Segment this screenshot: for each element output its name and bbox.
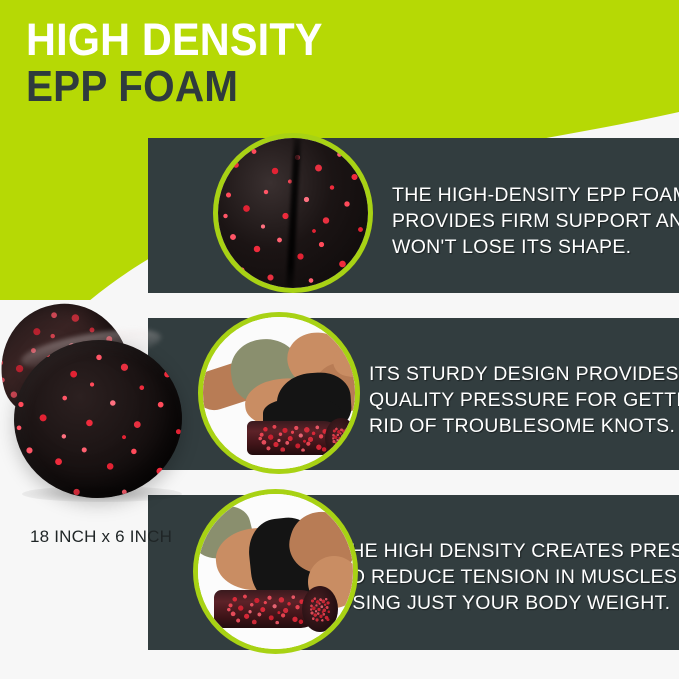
thigh-rolling-photo	[203, 317, 355, 469]
feature-3-line-1: THE HIGH DENSITY CREATES PRESSURE	[338, 538, 679, 564]
feature-text-3: THE HIGH DENSITY CREATES PRESSURE TO RED…	[338, 538, 679, 616]
page-title: HIGH DENSITY EPP FOAM	[26, 16, 348, 110]
roller-face-speckles	[9, 334, 188, 503]
feature-2-line-3: RID OF TROUBLESOME KNOTS.	[369, 413, 679, 439]
roller-drop-shadow	[22, 486, 182, 502]
feature-1-line-3: WON'T LOSE ITS SHAPE.	[392, 234, 679, 260]
product-size-caption: 18 INCH x 6 INCH	[30, 527, 172, 547]
roller-end-face	[9, 334, 188, 503]
feature-2-line-1: ITS STURDY DESIGN PROVIDES	[369, 361, 679, 387]
back-rolling-photo	[198, 494, 353, 649]
foam-roller-product-image	[6, 300, 206, 505]
feature-2-line-2: QUALITY PRESSURE FOR GETTING	[369, 387, 679, 413]
feature-image-2-thigh-rolling	[203, 317, 355, 469]
feature-1-line-2: PROVIDES FIRM SUPPORT AND	[392, 208, 679, 234]
feature-text-2: ITS STURDY DESIGN PROVIDES QUALITY PRESS…	[369, 361, 679, 439]
feature-3-line-2: TO REDUCE TENSION IN MUSCLES	[338, 564, 679, 590]
feature-3-line-3: USING JUST YOUR BODY WEIGHT.	[338, 590, 679, 616]
feature-image-1-foam-texture	[218, 138, 368, 288]
feature-text-1: THE HIGH-DENSITY EPP FOAM PROVIDES FIRM …	[392, 182, 679, 260]
title-line-secondary: EPP FOAM	[26, 63, 323, 110]
feature-1-line-1: THE HIGH-DENSITY EPP FOAM	[392, 182, 679, 208]
feature-image-3-back-rolling	[198, 494, 353, 649]
title-line-primary: HIGH DENSITY	[26, 16, 323, 63]
foam-texture-closeup-photo	[218, 138, 368, 288]
infographic-canvas: HIGH DENSITY EPP FOAM THE HIGH-DENSITY E…	[0, 0, 679, 679]
